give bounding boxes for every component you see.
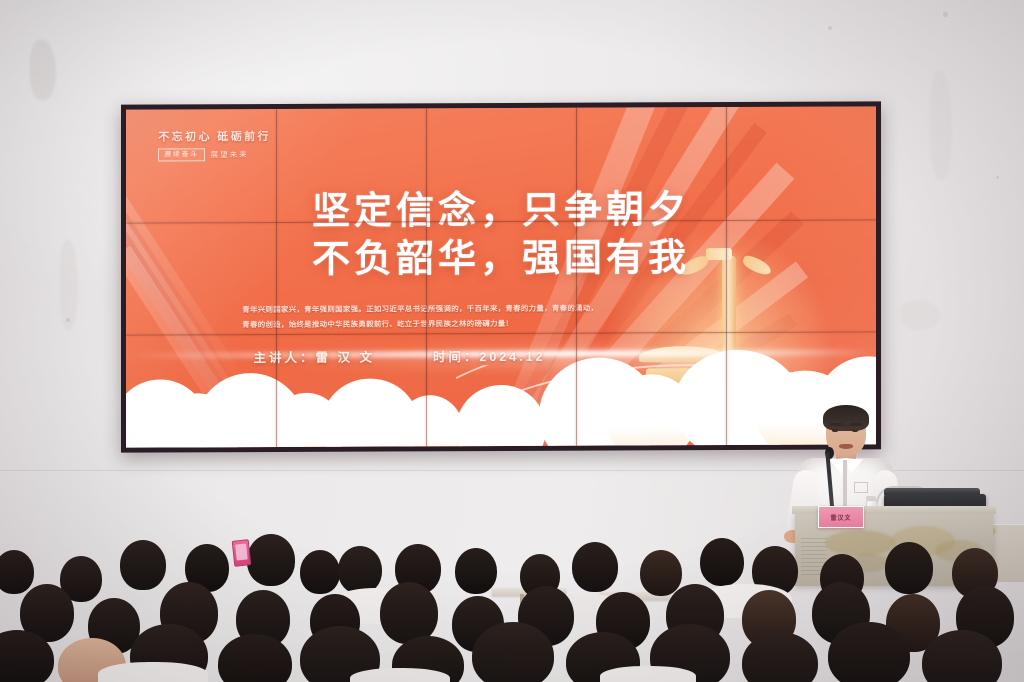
slide-date-label: 时间：2024.12 <box>433 346 546 365</box>
slide-kicker: 不忘初心 砥砺前行 <box>158 128 271 144</box>
audience-head <box>455 548 497 594</box>
lecture-hall-scene: 不忘初心 砥砺前行 赓续奋斗 展望未来 坚定信念，只争朝夕 不负韶华，强国有我 … <box>0 0 1024 682</box>
slide-badge-text: 展望未来 <box>211 149 249 160</box>
slide-paragraph: 青年兴则国家兴，青年强则国家强。正如习近平总书记所强调的，千百年来，青春的力量，… <box>242 302 677 333</box>
audience-head <box>0 550 34 594</box>
presenter-mouth <box>839 444 853 449</box>
wall-speck <box>828 26 832 30</box>
presenter-eye <box>852 429 858 432</box>
slide-paragraph-line2: 青春的创造，始终是推动中华民族勇毅前行、屹立于世界民族之林的磅礴力量！ <box>242 316 677 332</box>
video-wall-screen: 不忘初心 砥砺前行 赓续奋斗 展望未来 坚定信念，只争朝夕 不负韶华，强国有我 … <box>126 106 876 447</box>
wall-speck <box>996 176 999 179</box>
wall-speck <box>66 318 70 322</box>
presenter-shirt-pocket <box>854 482 868 493</box>
slide-title-line2: 不负韶华，强国有我 <box>126 233 876 285</box>
slide-meta-row: 主讲人：雷 汉 文 时间：2024.12 <box>254 346 546 366</box>
audience-head <box>380 582 438 644</box>
audience-head <box>472 622 554 682</box>
presenter-eye <box>832 429 838 432</box>
slide-badge-boxed: 赓续奋斗 <box>158 148 204 161</box>
audience-head <box>300 550 340 594</box>
audience-head <box>885 542 933 594</box>
audience-head <box>742 632 818 682</box>
audience-head <box>338 546 382 594</box>
audience-head <box>700 538 744 586</box>
audience-shoulders <box>350 668 450 682</box>
audience-head <box>572 542 618 592</box>
audience-head <box>120 540 166 590</box>
led-video-wall[interactable]: 不忘初心 砥砺前行 赓续奋斗 展望未来 坚定信念，只争朝夕 不负韶华，强国有我 … <box>121 101 881 452</box>
audience-head <box>640 550 682 596</box>
wall-scuff <box>900 300 940 330</box>
slide-badge-row: 赓续奋斗 展望未来 <box>158 148 248 161</box>
phone-screen <box>235 543 248 560</box>
wall-speck <box>943 12 948 17</box>
slide-title: 坚定信念，只争朝夕 不负韶华，强国有我 <box>126 184 876 285</box>
audience-head <box>828 622 910 682</box>
audience-shoulders <box>98 662 208 682</box>
smartphone <box>232 539 252 567</box>
audience-shoulders <box>600 666 696 682</box>
seated-audience <box>0 512 1024 682</box>
audience-head <box>247 534 295 586</box>
slide-speaker-label: 主讲人：雷 汉 文 <box>254 347 375 367</box>
slide-title-line1: 坚定信念，只争朝夕 <box>312 187 690 233</box>
